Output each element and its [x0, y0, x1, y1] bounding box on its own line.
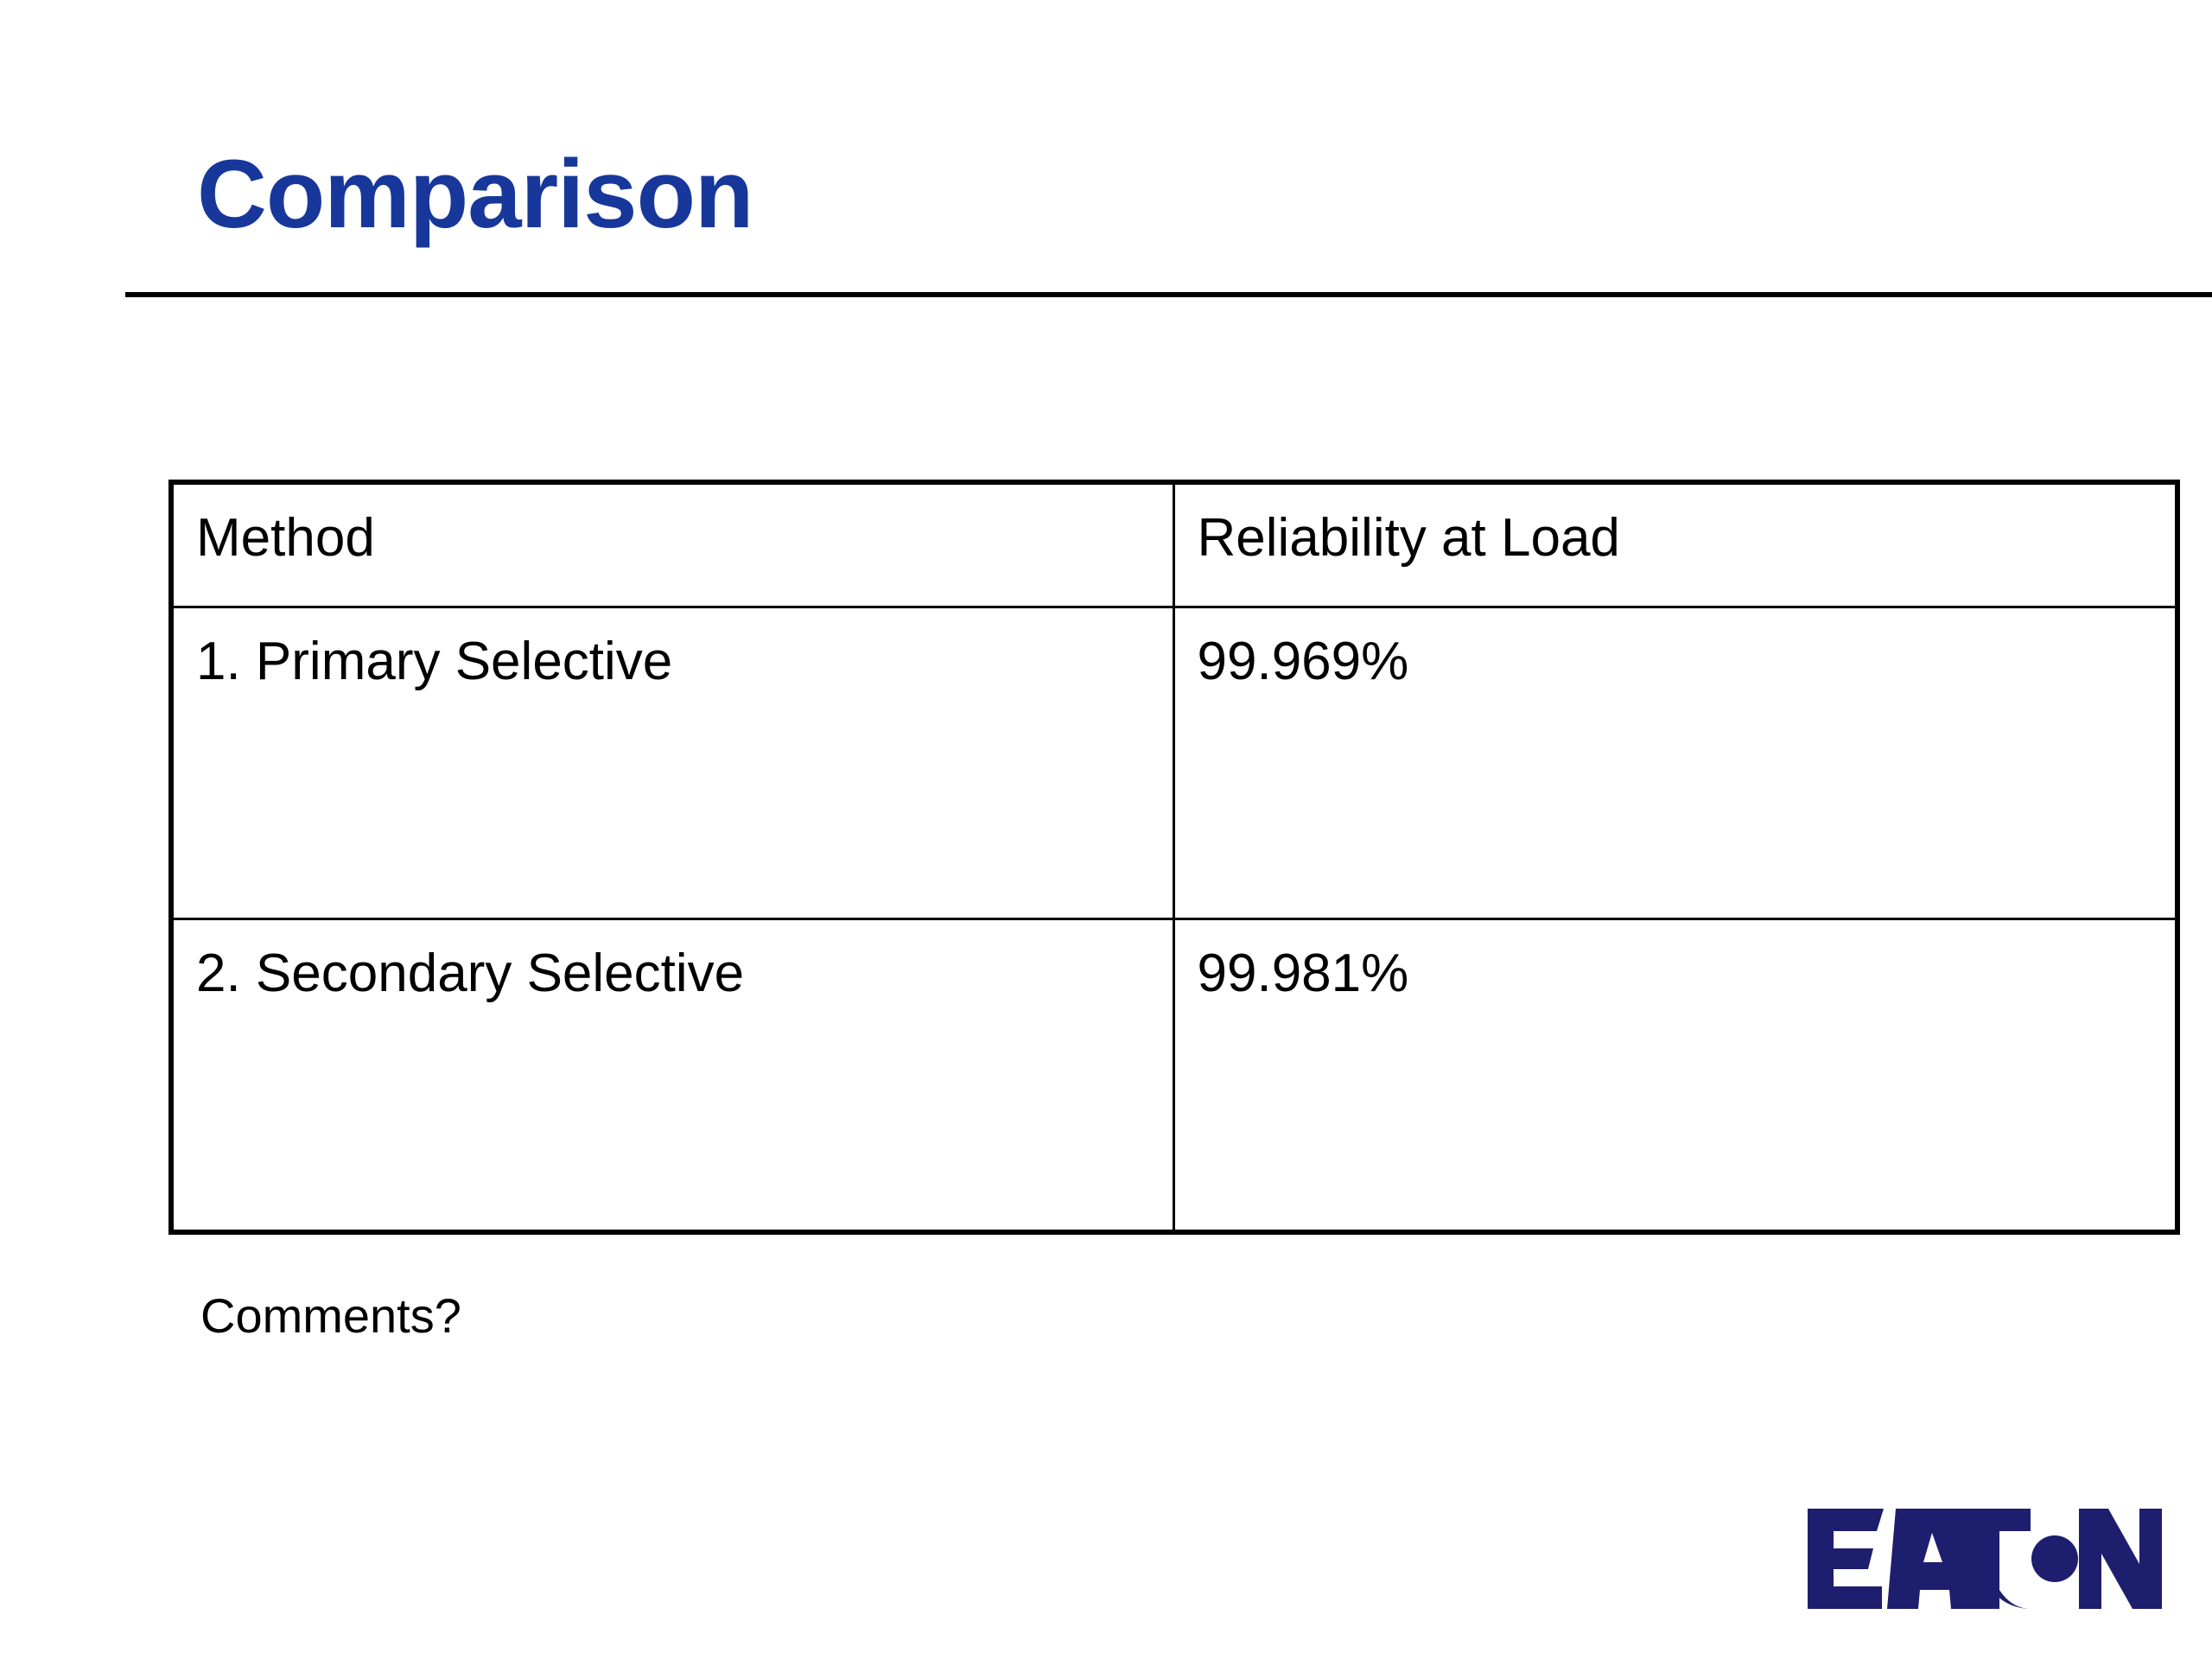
- eaton-logo: [1804, 1505, 2162, 1612]
- cell-reliability-1: 99.969%: [1173, 607, 2177, 919]
- page-title: Comparison: [197, 141, 753, 247]
- column-header-method: Method: [171, 482, 1173, 607]
- cell-method-2: 2. Secondary Selective: [171, 919, 1173, 1233]
- slide-canvas: Comparison Method Reliability at Load 1.…: [0, 0, 2212, 1659]
- table-header-row: Method Reliability at Load: [171, 482, 2177, 607]
- title-underline-rule: [125, 292, 2212, 297]
- comments-prompt: Comments?: [200, 1289, 461, 1343]
- eaton-logo-icon: [1804, 1505, 2162, 1612]
- comparison-table: Method Reliability at Load 1. Primary Se…: [168, 480, 2180, 1235]
- column-header-reliability: Reliability at Load: [1173, 482, 2177, 607]
- cell-reliability-2: 99.981%: [1173, 919, 2177, 1233]
- cell-method-1: 1. Primary Selective: [171, 607, 1173, 919]
- table-row: 1. Primary Selective 99.969%: [171, 607, 2177, 919]
- table-row: 2. Secondary Selective 99.981%: [171, 919, 2177, 1233]
